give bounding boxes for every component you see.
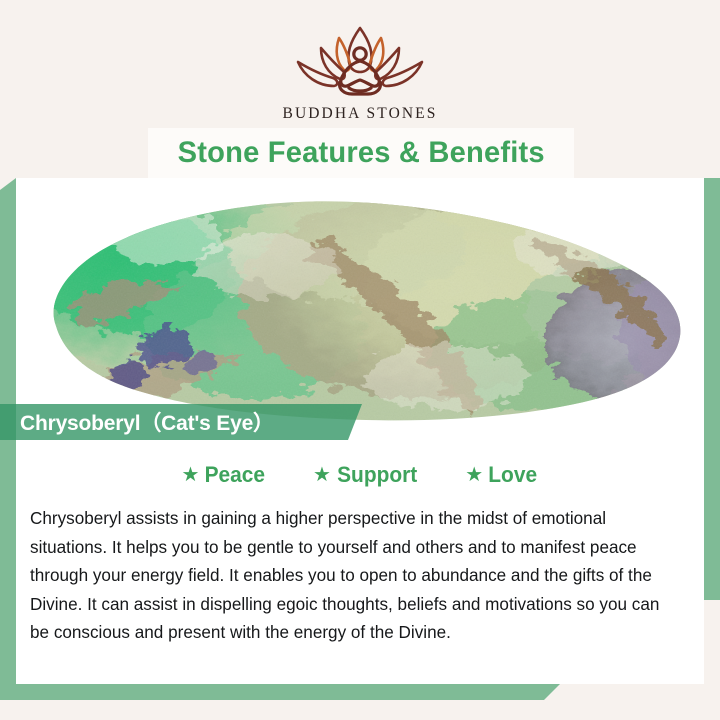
title-banner: Stone Features & Benefits bbox=[148, 128, 574, 178]
stone-description: Chrysoberyl assists in gaining a higher … bbox=[30, 504, 680, 647]
page-title: Stone Features & Benefits bbox=[177, 136, 544, 170]
benefit-label-love: Love bbox=[488, 462, 537, 488]
benefits-row: ★ Peace ★ Support ★ Love bbox=[16, 462, 704, 488]
star-icon: ★ bbox=[465, 465, 483, 485]
frame-accent-bottom bbox=[0, 684, 560, 700]
benefit-item-love: ★ Love bbox=[465, 462, 538, 488]
frame-accent-right bbox=[704, 130, 720, 600]
star-icon: ★ bbox=[313, 465, 331, 485]
benefit-item-peace: ★ Peace bbox=[181, 462, 267, 488]
brand-name: BUDDHA STONES bbox=[0, 105, 720, 123]
stone-name-label: Chrysoberyl（Cat's Eye） bbox=[0, 407, 274, 437]
star-icon: ★ bbox=[181, 465, 199, 485]
brand-logo: BUDDHA STONES bbox=[0, 22, 720, 123]
benefit-label-peace: Peace bbox=[205, 462, 265, 488]
lotus-meditation-icon bbox=[276, 22, 444, 102]
benefit-item-support: ★ Support bbox=[313, 462, 419, 488]
benefit-label-support: Support bbox=[337, 462, 417, 488]
stone-name-band: Chrysoberyl（Cat's Eye） bbox=[0, 404, 362, 440]
stone-info-card: BUDDHA STONES bbox=[0, 0, 720, 720]
